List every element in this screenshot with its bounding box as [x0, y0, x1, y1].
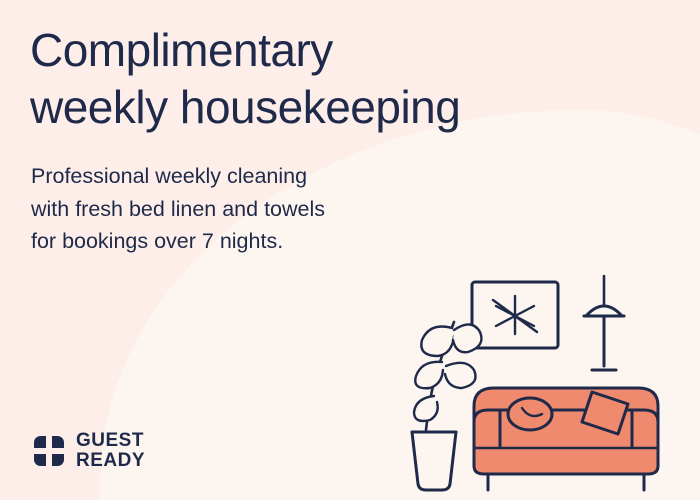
- sofa-icon: [474, 388, 658, 490]
- headline-line-1: Complimentary: [30, 22, 630, 79]
- living-room-illustration: [396, 270, 696, 500]
- headline: Complimentary weekly housekeeping: [30, 22, 630, 135]
- guestready-logo-mark-icon: [32, 434, 66, 468]
- subheadline-line-1: Professional weekly cleaning: [31, 160, 461, 193]
- promo-banner: Complimentary weekly housekeeping Profes…: [0, 0, 700, 500]
- subheadline: Professional weekly cleaning with fresh …: [31, 160, 461, 258]
- framed-picture-icon: [472, 282, 558, 348]
- floor-lamp-icon: [584, 276, 624, 370]
- subheadline-line-2: with fresh bed linen and towels: [31, 193, 461, 226]
- subheadline-line-3: for bookings over 7 nights.: [31, 225, 461, 258]
- logo-text-line-2: READY: [76, 451, 145, 470]
- logo-text-line-1: GUEST: [76, 431, 145, 450]
- headline-line-2: weekly housekeeping: [30, 79, 630, 136]
- potted-plant-icon: [412, 322, 482, 490]
- guestready-logo-text: GUEST READY: [76, 431, 145, 470]
- guestready-logo: GUEST READY: [32, 431, 145, 470]
